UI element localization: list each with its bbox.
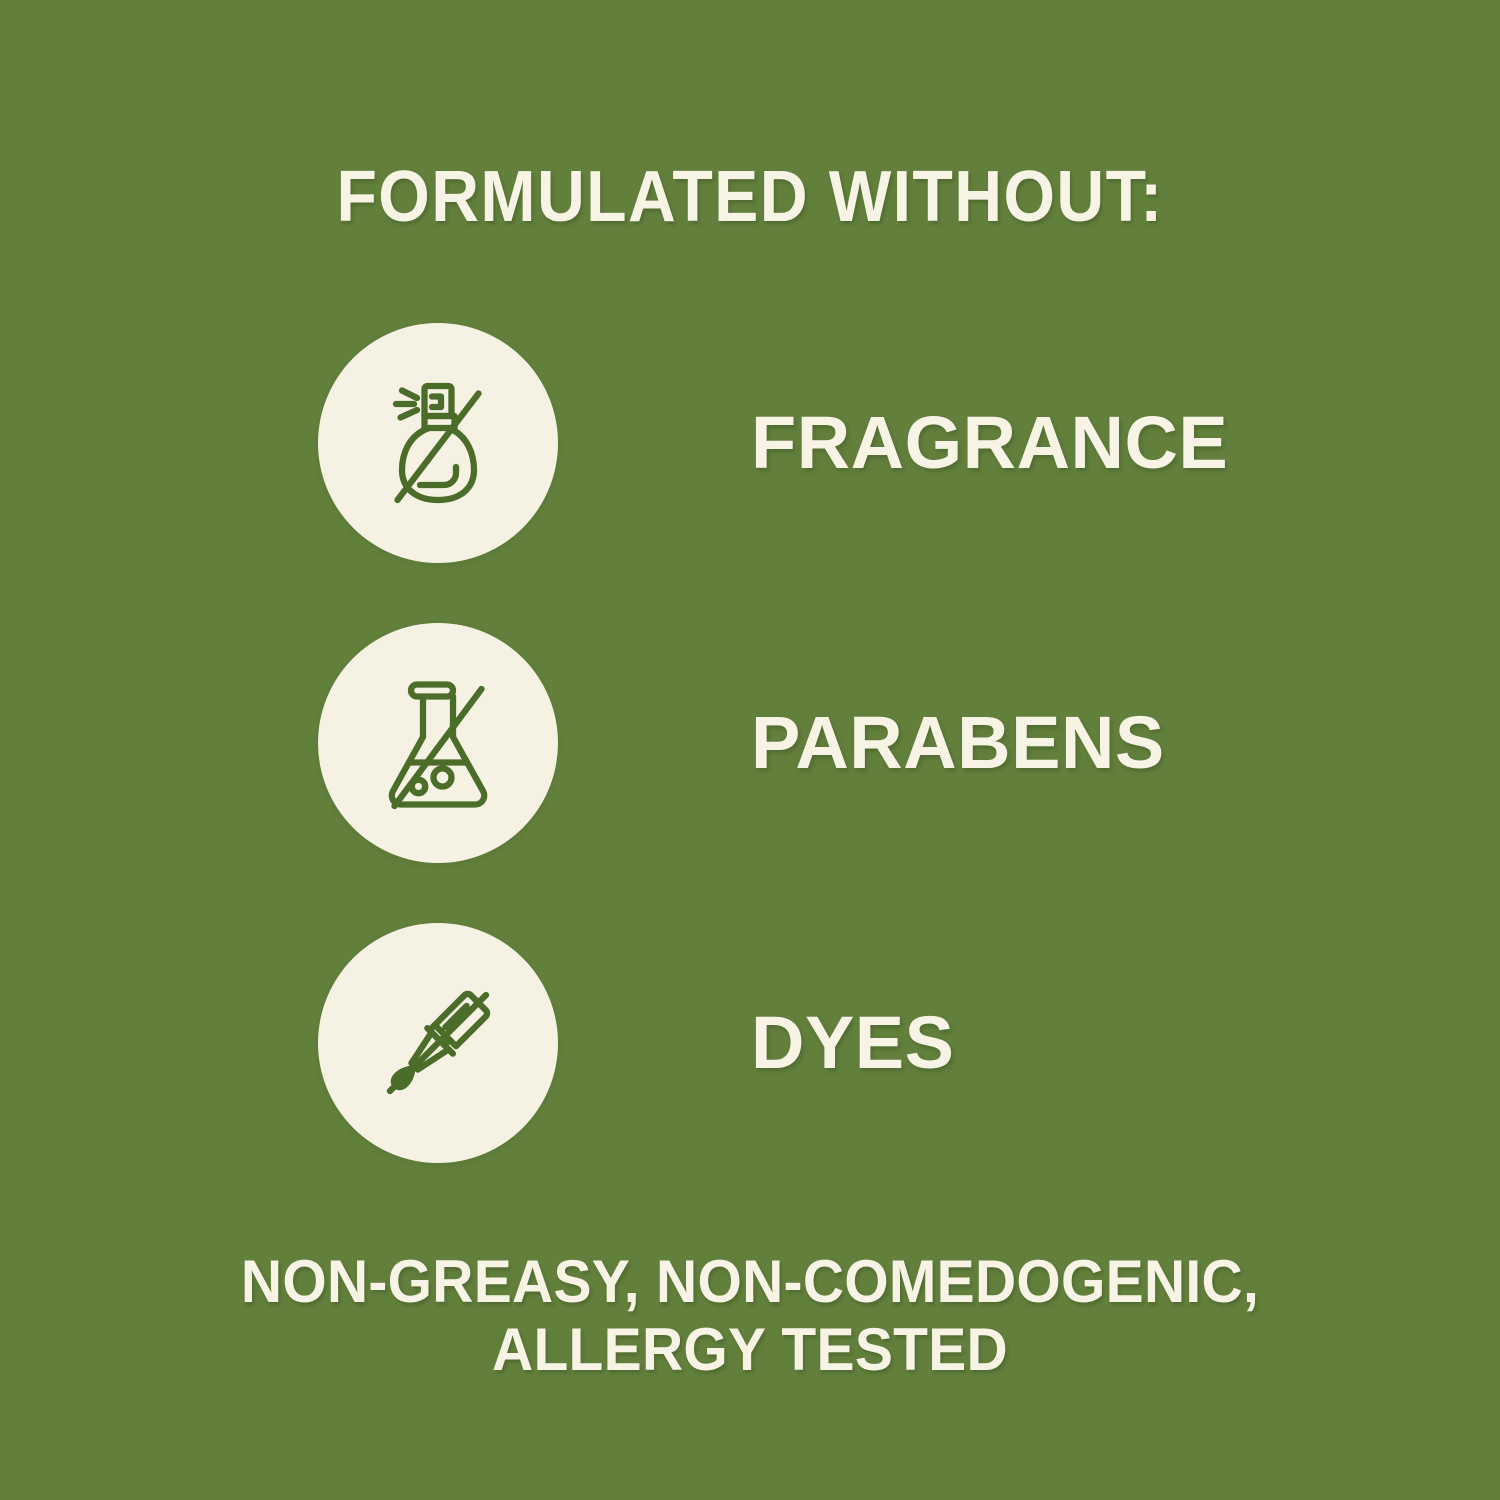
list-item-label-parabens: PARABENS <box>751 703 1165 783</box>
list-item-label-dyes: DYES <box>751 1003 955 1083</box>
badge-parabens <box>318 623 558 863</box>
list-item-label-fragrance: FRAGRANCE <box>751 403 1228 483</box>
no-dyes-dropper-icon <box>363 968 513 1118</box>
list-item-fragrance: FRAGRANCE <box>318 323 1318 563</box>
formulated-without-card: FORMULATED WITHOUT: F <box>0 0 1500 1500</box>
no-fragrance-spray-bottle-icon <box>363 368 513 518</box>
list-item-parabens: PARABENS <box>318 623 1318 863</box>
badge-fragrance <box>318 323 558 563</box>
page-title: FORMULATED WITHOUT: <box>60 158 1440 236</box>
badge-dyes <box>318 923 558 1163</box>
footnote-line-2: ALLERGY TESTED <box>38 1316 1463 1384</box>
list-item-dyes: DYES <box>318 923 1318 1163</box>
footnote-line-1: NON-GREASY, NON-COMEDOGENIC, <box>38 1248 1463 1316</box>
footnote: NON-GREASY, NON-COMEDOGENIC, ALLERGY TES… <box>38 1248 1463 1384</box>
no-parabens-flask-icon <box>363 668 513 818</box>
